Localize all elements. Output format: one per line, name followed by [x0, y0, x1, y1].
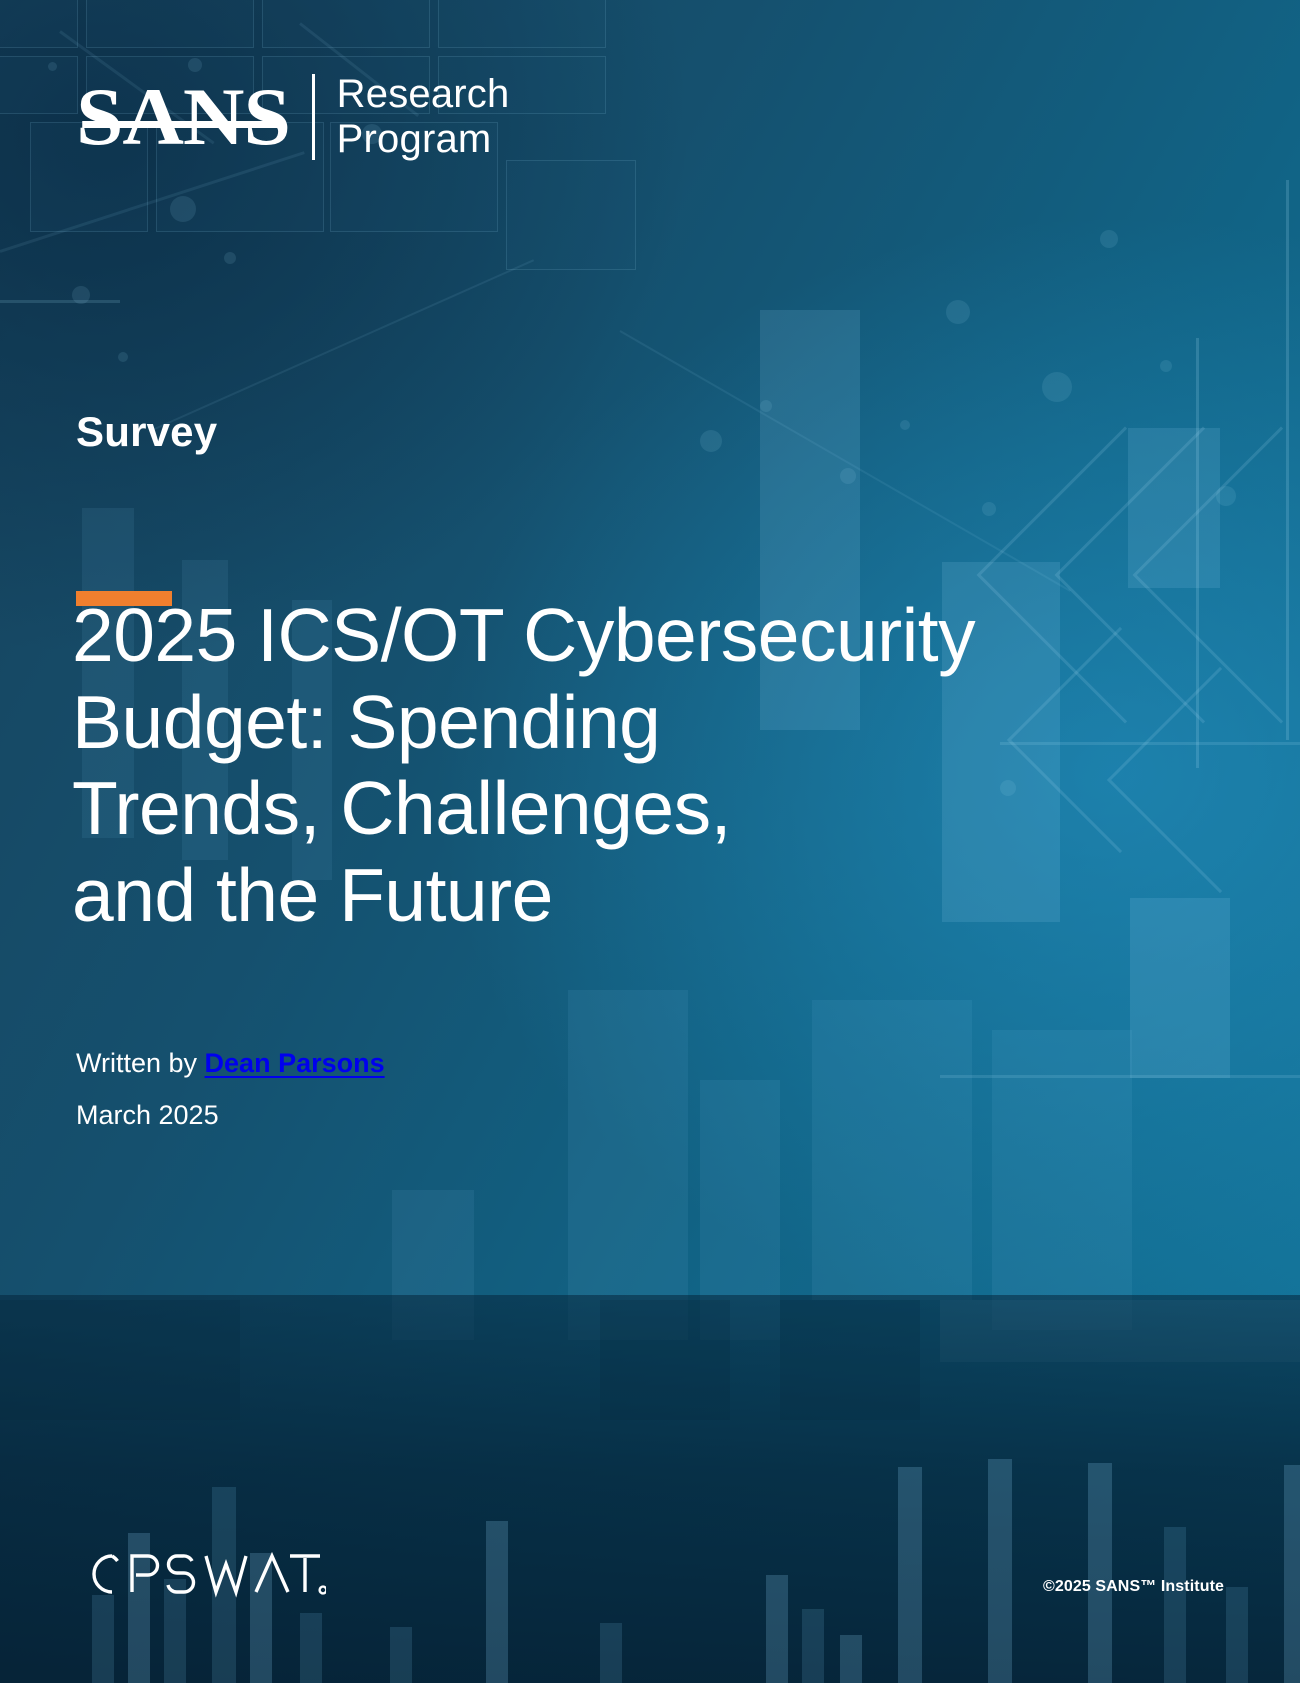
- program-name: Research Program: [337, 72, 510, 162]
- sans-research-program-logo[interactable]: SANS Research Program: [76, 72, 509, 162]
- byline: Written by Dean Parsons: [76, 1048, 385, 1079]
- program-line-1: Research: [337, 72, 510, 117]
- sans-wordmark: SANS: [76, 79, 294, 154]
- document-type-kicker: Survey: [76, 408, 217, 456]
- report-cover-page: SANS Research Program Survey 2025 ICS/OT…: [0, 0, 1300, 1683]
- logo-divider: [312, 74, 315, 160]
- publication-date: March 2025: [76, 1100, 219, 1131]
- byline-prefix: Written by: [76, 1048, 205, 1078]
- author-link[interactable]: Dean Parsons: [205, 1048, 385, 1078]
- cover-content: SANS Research Program Survey 2025 ICS/OT…: [0, 0, 1300, 1683]
- opswat-wordmark-icon: [76, 1548, 326, 1600]
- program-line-2: Program: [337, 117, 510, 162]
- copyright-notice: ©2025 SANS™ Institute: [1043, 1578, 1224, 1596]
- page-title: 2025 ICS/OT Cybersecurity Budget: Spendi…: [72, 592, 1082, 939]
- opswat-logo[interactable]: [76, 1548, 326, 1600]
